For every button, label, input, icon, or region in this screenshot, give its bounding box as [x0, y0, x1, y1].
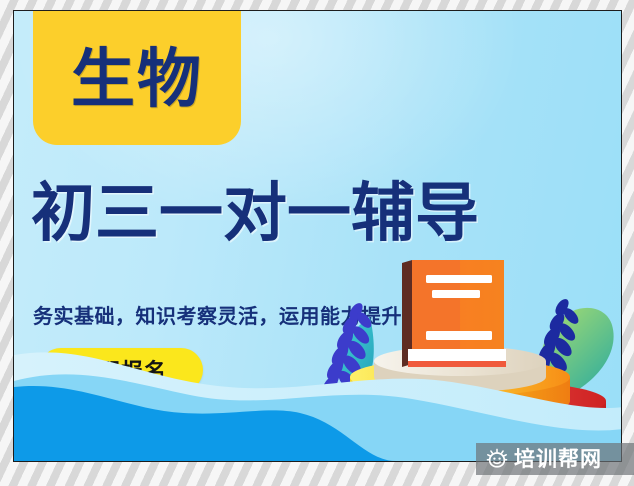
page-backdrop: 生物 初三一对一辅导 务实基础，知识考察灵活，运用能力提升 立即报名	[0, 0, 634, 486]
page-title: 初三一对一辅导	[31, 181, 611, 245]
subject-badge-label: 生物	[71, 47, 203, 111]
watermark: 培训帮网	[476, 443, 634, 475]
subject-badge: 生物	[33, 10, 241, 145]
sun-face-icon	[486, 448, 508, 470]
watermark-label: 培训帮网	[514, 449, 602, 470]
course-promo-banner: 生物 初三一对一辅导 务实基础，知识考察灵活，运用能力提升 立即报名	[13, 10, 622, 462]
